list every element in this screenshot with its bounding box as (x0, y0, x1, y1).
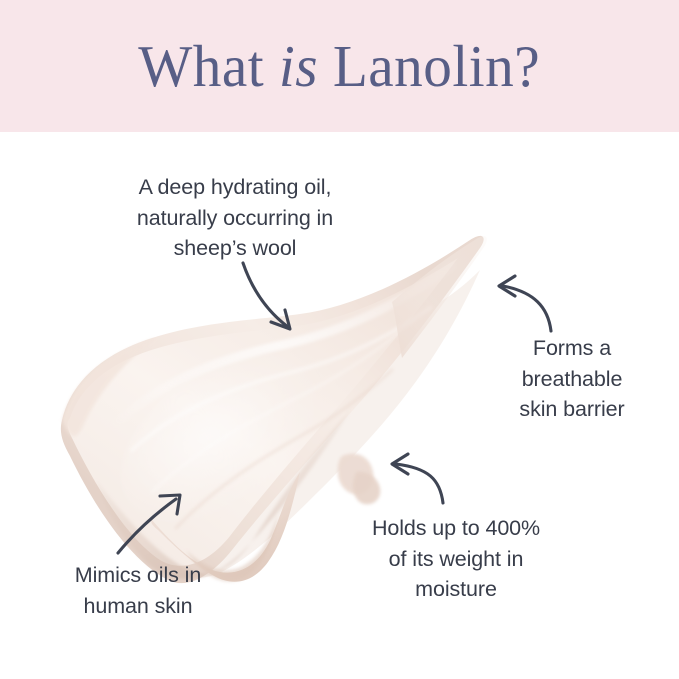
annotation-line: Holds up to 400% (325, 513, 587, 544)
page-title: What is Lanolin? (139, 37, 541, 96)
annotation-line: of its weight in (325, 544, 587, 575)
annotation-line: Mimics oils in (26, 560, 250, 591)
arrow-breathable-skin-barrier (499, 276, 551, 331)
arrow-deep-hydrating-oil (243, 263, 290, 329)
page-title-emphasis: is (279, 33, 318, 99)
page-title-part2: Lanolin? (318, 33, 540, 99)
annotation-line: breathable (468, 364, 676, 395)
annotation-deep-hydrating-oil: A deep hydrating oil, naturally occurrin… (86, 172, 384, 264)
page-title-part1: What (139, 33, 280, 99)
annotation-line: skin barrier (468, 394, 676, 425)
arrow-holds-moisture (392, 454, 443, 503)
arrow-mimics-human-skin-oils (118, 495, 180, 553)
annotation-line: sheep’s wool (86, 233, 384, 264)
annotation-line: moisture (325, 574, 587, 605)
annotation-breathable-skin-barrier: Forms a breathable skin barrier (468, 333, 676, 425)
annotation-line: human skin (26, 591, 250, 622)
annotation-mimics-human-skin-oils: Mimics oils in human skin (26, 560, 250, 621)
annotation-holds-moisture: Holds up to 400% of its weight in moistu… (325, 513, 587, 605)
infographic-canvas: What is Lanolin? (0, 0, 679, 679)
header-band: What is Lanolin? (0, 0, 679, 132)
annotation-line: Forms a (468, 333, 676, 364)
annotation-line: naturally occurring in (86, 203, 384, 234)
annotation-line: A deep hydrating oil, (86, 172, 384, 203)
